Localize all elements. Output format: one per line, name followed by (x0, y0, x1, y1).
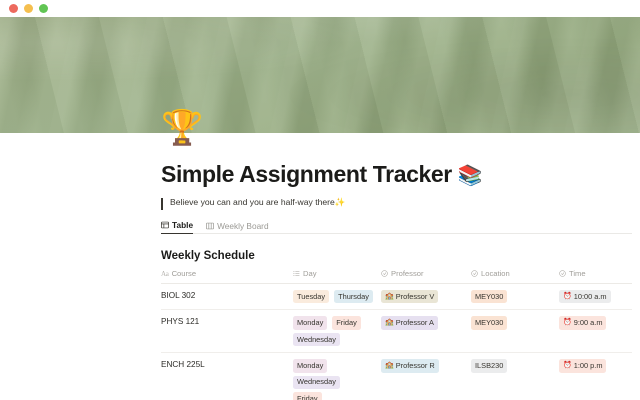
cell-professor-emoji-icon: 🏫 (385, 319, 394, 326)
column-header-course-label: Course (172, 269, 196, 278)
cell-professor-label: Professor A (396, 319, 434, 326)
day-tag[interactable]: Monday (293, 316, 327, 329)
close-window-button[interactable] (9, 4, 18, 13)
cell-course[interactable]: ENCH 225L (161, 353, 293, 400)
cell-location[interactable]: MEY030 (471, 284, 559, 310)
cell-professor[interactable]: 🏫Professor V (381, 284, 471, 310)
cell-course[interactable]: BIOL 302 (161, 284, 293, 310)
cell-time[interactable]: ⏰10:00 a.m (559, 284, 632, 310)
day-tag[interactable]: Friday (293, 392, 322, 400)
tab-weekly-board-label: Weekly Board (217, 221, 269, 231)
cell-course[interactable]: PHYS 121 (161, 310, 293, 353)
cell-time-emoji-icon: ⏰ (563, 293, 572, 300)
cell-professor-tag[interactable]: 🏫Professor A (381, 316, 438, 329)
cell-professor-label: Professor V (396, 293, 435, 300)
day-tag[interactable]: Tuesday (293, 290, 329, 303)
cell-location-tag[interactable]: MEY030 (471, 316, 507, 329)
table-body: BIOL 302TuesdayThursday🏫Professor VMEY03… (161, 284, 632, 400)
cell-location-label: ILSB230 (475, 362, 503, 369)
column-header-day-label: Day (303, 269, 317, 278)
cell-time[interactable]: ⏰1:00 p.m (559, 353, 632, 400)
column-header-time[interactable]: Time (559, 269, 632, 284)
day-tag[interactable]: Monday (293, 359, 327, 372)
cell-professor-tag[interactable]: 🏫Professor R (381, 359, 439, 372)
quote-text: Believe you can and you are half-way the… (170, 197, 335, 207)
app-window: 🏆 Simple Assignment Tracker 📚 Believe yo… (0, 0, 640, 400)
tab-table[interactable]: Table (161, 220, 193, 234)
table-row[interactable]: BIOL 302TuesdayThursday🏫Professor VMEY03… (161, 284, 632, 310)
select-icon (381, 270, 388, 277)
minimize-window-button[interactable] (24, 4, 33, 13)
cell-location-tag[interactable]: MEY030 (471, 290, 507, 303)
cell-day[interactable]: MondayWednesdayFriday (293, 353, 381, 400)
board-icon (206, 222, 214, 230)
cell-time-label: 1:00 p.m (574, 362, 603, 369)
cell-time-tag[interactable]: ⏰10:00 a.m (559, 290, 611, 303)
cell-time-label: 9:00 a.m (574, 319, 603, 326)
cell-time[interactable]: ⏰9:00 a.m (559, 310, 632, 353)
cell-professor-emoji-icon: 🏫 (385, 362, 394, 369)
day-tag[interactable]: Thursday (334, 290, 373, 303)
column-header-day[interactable]: Day (293, 269, 381, 284)
quote-block: Believe you can and you are half-way the… (161, 197, 632, 210)
page-icon-trophy[interactable]: 🏆 (161, 111, 203, 145)
cell-day[interactable]: TuesdayThursday (293, 284, 381, 310)
cell-day[interactable]: MondayFridayWednesday (293, 310, 381, 353)
tab-weekly-board[interactable]: Weekly Board (206, 221, 269, 234)
cell-professor[interactable]: 🏫Professor A (381, 310, 471, 353)
quote-text-wrap: Believe you can and you are half-way the… (170, 197, 346, 208)
day-tag[interactable]: Friday (332, 316, 361, 329)
maximize-window-button[interactable] (39, 4, 48, 13)
cell-location-tag[interactable]: ILSB230 (471, 359, 507, 372)
cell-time-emoji-icon: ⏰ (563, 319, 572, 326)
multi-select-icon (293, 270, 300, 277)
column-header-professor[interactable]: Professor (381, 269, 471, 284)
column-header-course[interactable]: Aa Course (161, 269, 293, 284)
books-icon: 📚 (458, 165, 483, 187)
cell-location-label: MEY030 (475, 319, 503, 326)
select-icon (471, 270, 478, 277)
window-titlebar (0, 0, 640, 17)
day-tag[interactable]: Wednesday (293, 376, 340, 389)
page-cover-banner[interactable] (0, 17, 640, 133)
column-header-time-label: Time (569, 269, 586, 278)
table-row[interactable]: PHYS 121MondayFridayWednesday🏫Professor … (161, 310, 632, 353)
column-header-professor-label: Professor (391, 269, 424, 278)
cell-location[interactable]: ILSB230 (471, 353, 559, 400)
cell-location[interactable]: MEY030 (471, 310, 559, 353)
tab-table-label: Table (172, 220, 193, 230)
section-title: Weekly Schedule (161, 250, 632, 262)
cell-professor-label: Professor R (396, 362, 435, 369)
title-aa-icon: Aa (161, 270, 169, 278)
page-content: Simple Assignment Tracker 📚 Believe you … (0, 133, 640, 400)
sparkles-icon: ✨ (335, 197, 346, 207)
day-tag[interactable]: Wednesday (293, 333, 340, 346)
cell-time-label: 10:00 a.m (574, 293, 607, 300)
cell-professor-tag[interactable]: 🏫Professor V (381, 290, 438, 303)
column-header-location-label: Location (481, 269, 510, 278)
page-title-text: Simple Assignment Tracker (161, 161, 452, 187)
cell-time-tag[interactable]: ⏰9:00 a.m (559, 316, 606, 329)
cell-time-tag[interactable]: ⏰1:00 p.m (559, 359, 606, 372)
select-icon (559, 270, 566, 277)
column-header-location[interactable]: Location (471, 269, 559, 284)
cell-professor-emoji-icon: 🏫 (385, 293, 394, 300)
table-row[interactable]: ENCH 225LMondayWednesdayFriday🏫Professor… (161, 353, 632, 400)
table-icon (161, 221, 169, 229)
view-tabs: Table Weekly Board (161, 220, 632, 234)
cell-location-label: MEY030 (475, 293, 503, 300)
table-header-row: Aa Course (161, 269, 632, 284)
quote-bar (161, 198, 163, 210)
cell-professor[interactable]: 🏫Professor R (381, 353, 471, 400)
schedule-table: Aa Course (161, 269, 632, 400)
page-title: Simple Assignment Tracker 📚 (161, 161, 632, 188)
cell-time-emoji-icon: ⏰ (563, 362, 572, 369)
